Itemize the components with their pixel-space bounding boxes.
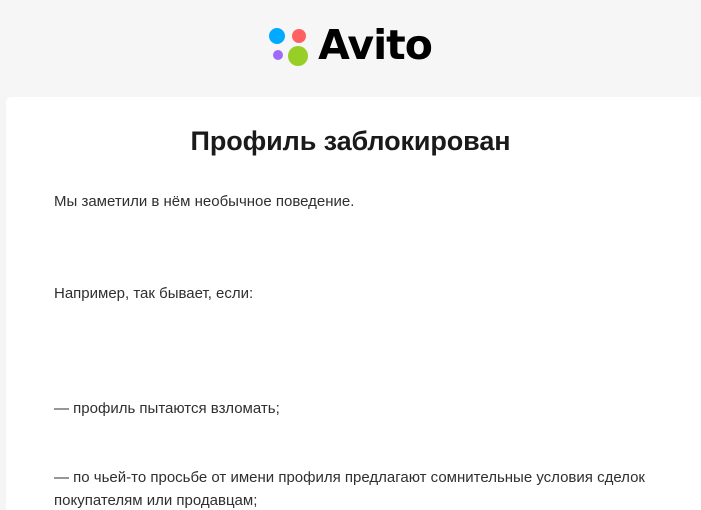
site-header: Avito — [0, 0, 701, 97]
logo-dot-blue-icon — [269, 28, 285, 44]
list-item: — профиль пытаются взломать; — [54, 397, 658, 420]
reasons-lead: Например, так бывает, если: — [54, 282, 661, 305]
reasons-block: Например, так бывает, если: — профиль пы… — [54, 236, 661, 510]
content-body: Профиль заблокирован Мы заметили в нём н… — [6, 97, 701, 510]
message-body: Мы заметили в нём необычное поведение. Н… — [6, 190, 701, 510]
reasons-list: — профиль пытаются взломать; — по чьей-т… — [54, 351, 661, 510]
avito-wordmark: Avito — [318, 25, 432, 66]
page-root: Avito Профиль заблокирован Мы заметили в… — [0, 0, 701, 510]
avito-logo[interactable]: Avito — [269, 26, 432, 67]
avito-logo-mark-icon — [269, 28, 309, 66]
content-card: Профиль заблокирован Мы заметили в нём н… — [6, 97, 701, 510]
intro-paragraph: Мы заметили в нём необычное поведение. — [54, 190, 661, 213]
logo-dot-green-icon — [288, 46, 308, 66]
page-title: Профиль заблокирован — [6, 97, 698, 157]
logo-dot-red-icon — [292, 29, 306, 43]
logo-dot-purple-icon — [273, 50, 283, 60]
list-item: — по чьей-то просьбе от имени профиля пр… — [54, 466, 658, 510]
